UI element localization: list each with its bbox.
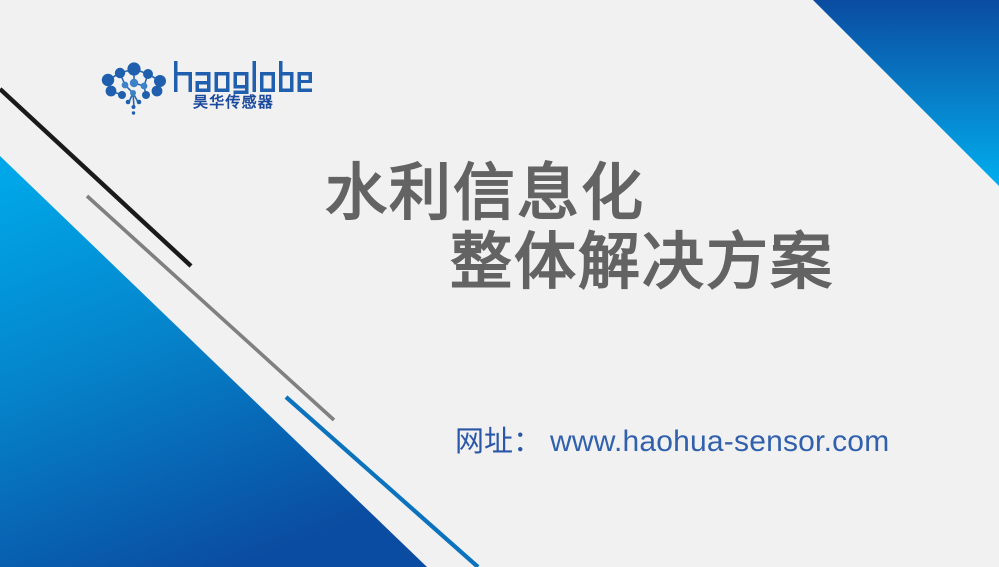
slide-title-group: 水利信息化 整体解决方案	[0, 158, 999, 297]
slide-title-line-1: 水利信息化	[0, 158, 999, 227]
website-label: 网址：	[455, 418, 542, 460]
website-url[interactable]: www.haohua-sensor.com	[550, 425, 889, 459]
slide-title-line-2: 整体解决方案	[0, 227, 999, 296]
haoglobe-network-dots-icon	[97, 60, 171, 116]
website-row: 网址： www.haohua-sensor.com	[455, 418, 889, 460]
presentation-slide: 昊华传感器 水利信息化 整体解决方案 网址： www.haohua-sensor…	[0, 0, 999, 567]
company-logo: 昊华传感器	[97, 58, 312, 120]
logo-subtitle-text: 昊华传感器	[193, 95, 274, 110]
haoglobe-wordmark	[173, 60, 313, 94]
